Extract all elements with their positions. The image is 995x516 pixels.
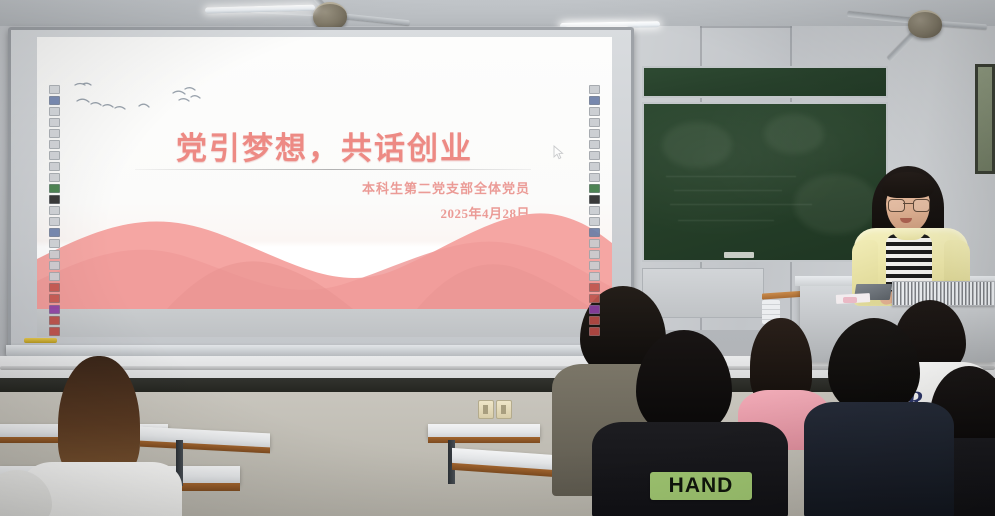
board-toolbar-icon[interactable] (589, 250, 600, 259)
board-toolbar-icon[interactable] (49, 294, 60, 303)
mouse-cursor-icon (553, 145, 564, 160)
board-toolbar-icon[interactable] (589, 294, 600, 303)
board-toolbar-icon[interactable] (49, 151, 60, 160)
board-toolbar-icon[interactable] (589, 140, 600, 149)
board-toolbar-icon[interactable] (49, 85, 60, 94)
board-toolbar-icon[interactable] (589, 118, 600, 127)
wall-poster-frame (975, 64, 995, 174)
board-toolbar-icon[interactable] (589, 316, 600, 325)
board-toolbar-icon[interactable] (49, 140, 60, 149)
board-toolbar-icon[interactable] (49, 327, 60, 336)
board-toolbar-icon[interactable] (49, 316, 60, 325)
slide-title: 党引梦想，共话创业 (37, 123, 612, 168)
board-toolbar-icon[interactable] (49, 129, 60, 138)
glasses-lens-left (888, 199, 905, 212)
board-toolbar-icon[interactable] (49, 184, 60, 193)
projection-surface: 党引梦想，共话创业 本科生第二党支部全体党员 2025年4月28日 (37, 37, 612, 337)
chalk-line (674, 190, 782, 191)
board-toolbar-icon[interactable] (49, 206, 60, 215)
chalk-smudge (662, 122, 732, 168)
desk-edge (428, 437, 540, 443)
board-toolbar-icon[interactable] (589, 151, 600, 160)
board-toolbar-icon[interactable] (49, 107, 60, 116)
board-toolbar-icon[interactable] (589, 96, 600, 105)
board-toolbar-icon[interactable] (589, 162, 600, 171)
board-toolbar-icon[interactable] (49, 283, 60, 292)
lectern-pink-note (843, 297, 857, 303)
board-toolbar-icon[interactable] (589, 228, 600, 237)
board-toolbar-icon[interactable] (589, 272, 600, 281)
presenter-glasses-icon (888, 199, 928, 210)
board-toolbar-icon[interactable] (49, 261, 60, 270)
board-toolbar-icon[interactable] (49, 217, 60, 226)
board-toolbar-icon[interactable] (589, 184, 600, 193)
chalkboard-lower-wall-panel (642, 268, 764, 318)
board-toolbar-icon[interactable] (589, 305, 600, 314)
board-toolbar-icon[interactable] (49, 162, 60, 171)
board-toolbar-icon[interactable] (589, 85, 600, 94)
board-toolbar-icon[interactable] (589, 195, 600, 204)
board-toolbar-icon[interactable] (589, 173, 600, 182)
board-toolbar-icon[interactable] (49, 173, 60, 182)
board-toolbar-icon[interactable] (589, 261, 600, 270)
chalk-line (678, 220, 774, 221)
slide-title-rule (135, 169, 531, 170)
birds-decoration (67, 75, 237, 121)
chalk-line (670, 204, 812, 205)
classroom-scene: 党引梦想，共话创业 本科生第二党支部全体党员 2025年4月28日 (0, 0, 995, 516)
board-toolbar-icon[interactable] (589, 239, 600, 248)
tshirt-graphic-text: HAND (650, 472, 752, 500)
chalkboard-upper-panel (642, 66, 888, 98)
board-toolbar-icon[interactable] (589, 217, 600, 226)
board-toolbar-icon[interactable] (589, 107, 600, 116)
powerpoint-slide[interactable]: 党引梦想，共话创业 本科生第二党支部全体党员 2025年4月28日 (37, 37, 612, 337)
chalk-smudge (764, 114, 824, 154)
ceiling (0, 0, 995, 26)
board-toolbar-icon[interactable] (49, 228, 60, 237)
desk-row-right-back (428, 424, 540, 438)
student-body (592, 422, 788, 516)
board-toolbar-left[interactable] (49, 85, 60, 337)
chalkboard-eraser[interactable] (724, 252, 754, 258)
slide-subtitle: 本科生第二党支部全体党员 (362, 178, 530, 197)
wall-outlet[interactable] (496, 400, 512, 419)
slide-mountains-decoration (37, 199, 612, 309)
glasses-lens-right (913, 199, 930, 212)
board-toolbar-icon[interactable] (49, 96, 60, 105)
board-toolbar-icon[interactable] (589, 327, 600, 336)
presenter-hair-front (882, 172, 934, 198)
student-body (804, 402, 954, 516)
wall-outlet[interactable] (478, 400, 494, 419)
board-toolbar-right[interactable] (589, 85, 600, 337)
board-toolbar-icon[interactable] (589, 206, 600, 215)
board-toolbar-icon[interactable] (49, 195, 60, 204)
chalk-line (666, 176, 796, 177)
glasses-bridge (903, 203, 913, 204)
whiteboard-marker[interactable] (24, 338, 57, 343)
slide-bottom-band (37, 309, 612, 337)
fan-hub (313, 2, 347, 30)
board-toolbar-icon[interactable] (49, 250, 60, 259)
board-toolbar-icon[interactable] (589, 129, 600, 138)
board-toolbar-icon[interactable] (49, 272, 60, 281)
board-toolbar-icon[interactable] (49, 305, 60, 314)
board-toolbar-icon[interactable] (589, 283, 600, 292)
board-toolbar-icon[interactable] (49, 118, 60, 127)
projection-whiteboard: 党引梦想，共话创业 本科生第二党支部全体党员 2025年4月28日 (8, 27, 634, 351)
board-toolbar-icon[interactable] (49, 239, 60, 248)
fan-hub (908, 10, 942, 38)
wall-seam (700, 26, 792, 28)
